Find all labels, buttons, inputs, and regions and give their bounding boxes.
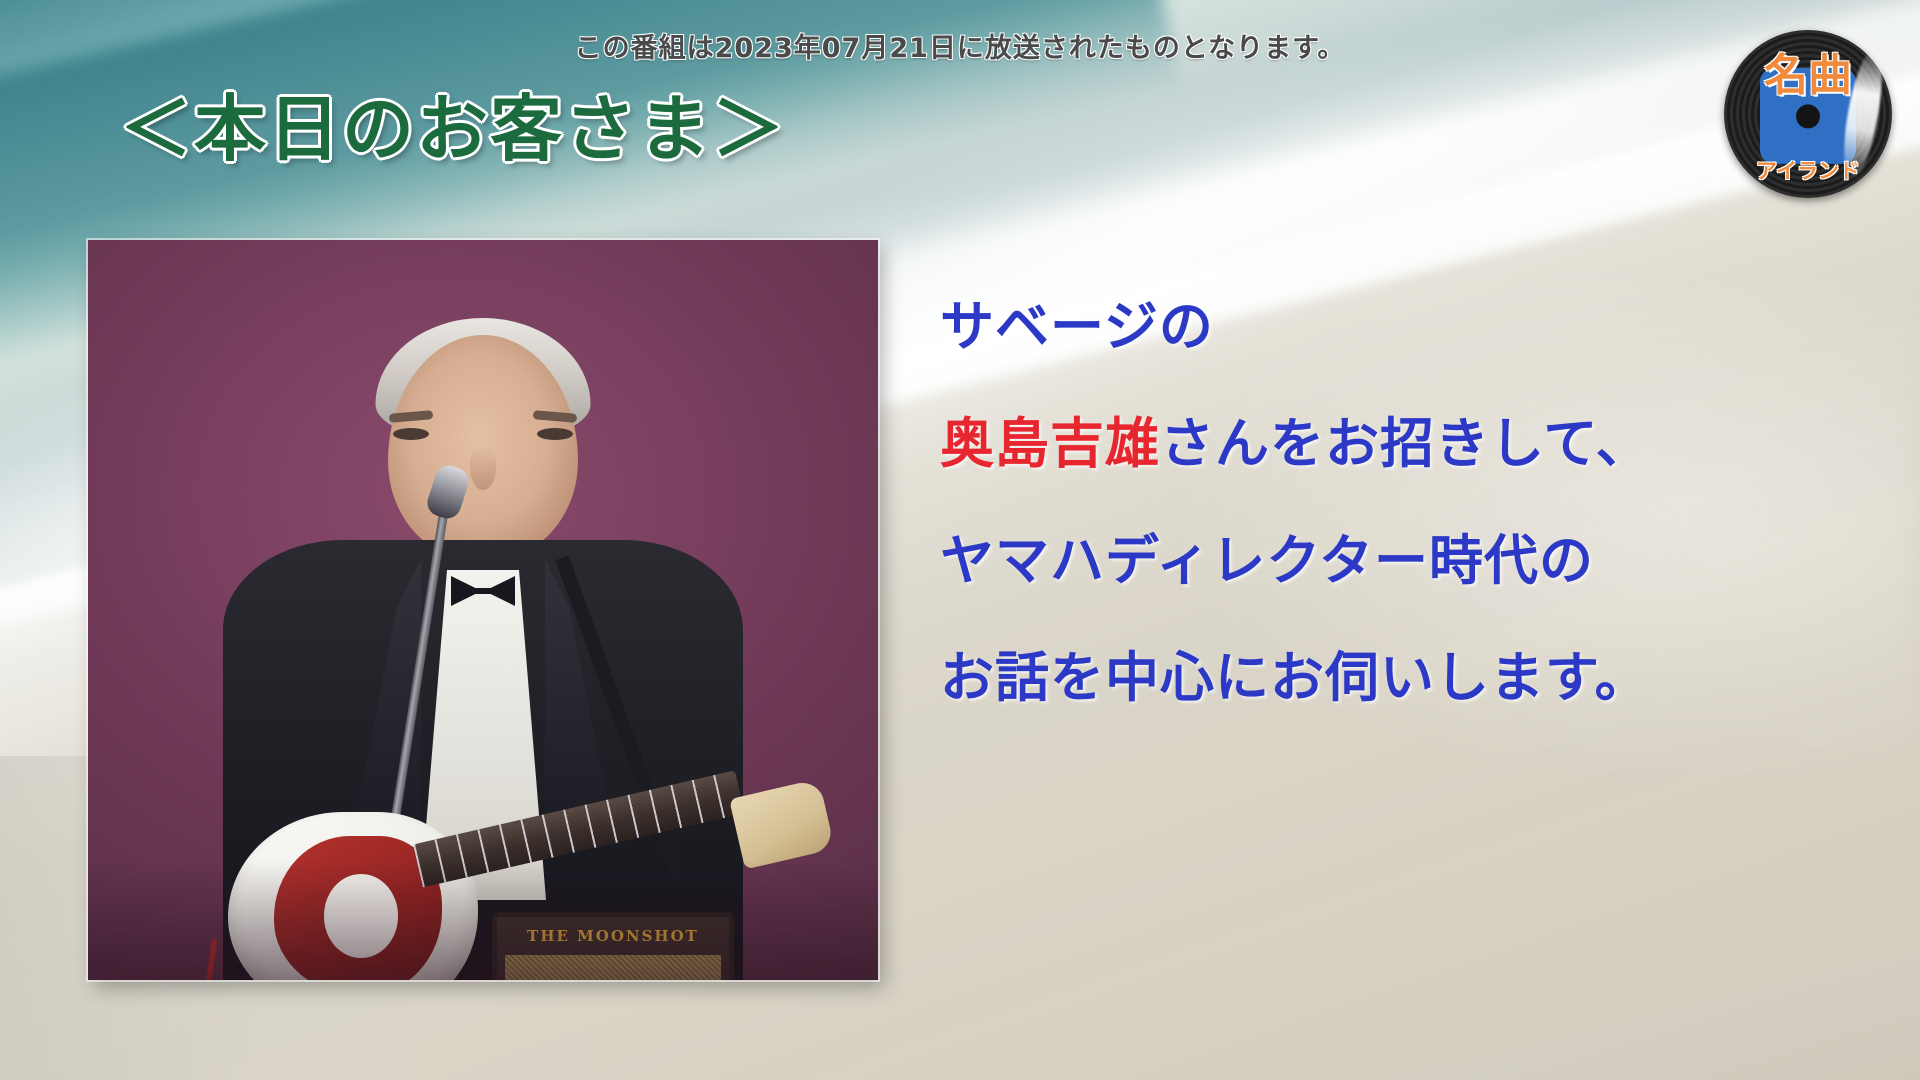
photo-vignette xyxy=(88,860,878,980)
record-center-hole xyxy=(1796,104,1820,128)
guest-name: 奥島吉雄 xyxy=(940,412,1160,475)
caption-line-1: サベージの xyxy=(940,300,1820,354)
broadcast-screen: この番組は2023年07月21日に放送されたものとなります。 ＜本日のお客さま＞… xyxy=(0,0,1920,1080)
caption-line-4: お話を中心にお伺いします。 xyxy=(940,651,1820,705)
caption-line-2: 奥島吉雄さんをお招きして、 xyxy=(940,417,1820,471)
person-eye-left xyxy=(393,428,429,440)
caption-line-2-rest: さんをお招きして、 xyxy=(1160,412,1651,475)
guest-introduction-text: サベージの 奥島吉雄さんをお招きして、 ヤマハディレクター時代の お話を中心にお… xyxy=(940,300,1820,705)
person-eye-right xyxy=(537,428,573,440)
program-logo: 名曲 アイランド xyxy=(1724,30,1892,198)
guest-photo: THE MOONSHOT xyxy=(88,240,878,980)
page-title: ＜本日のお客さま＞ xyxy=(120,70,786,175)
caption-line-3: ヤマハディレクター時代の xyxy=(940,534,1820,588)
person-nose xyxy=(470,446,496,490)
